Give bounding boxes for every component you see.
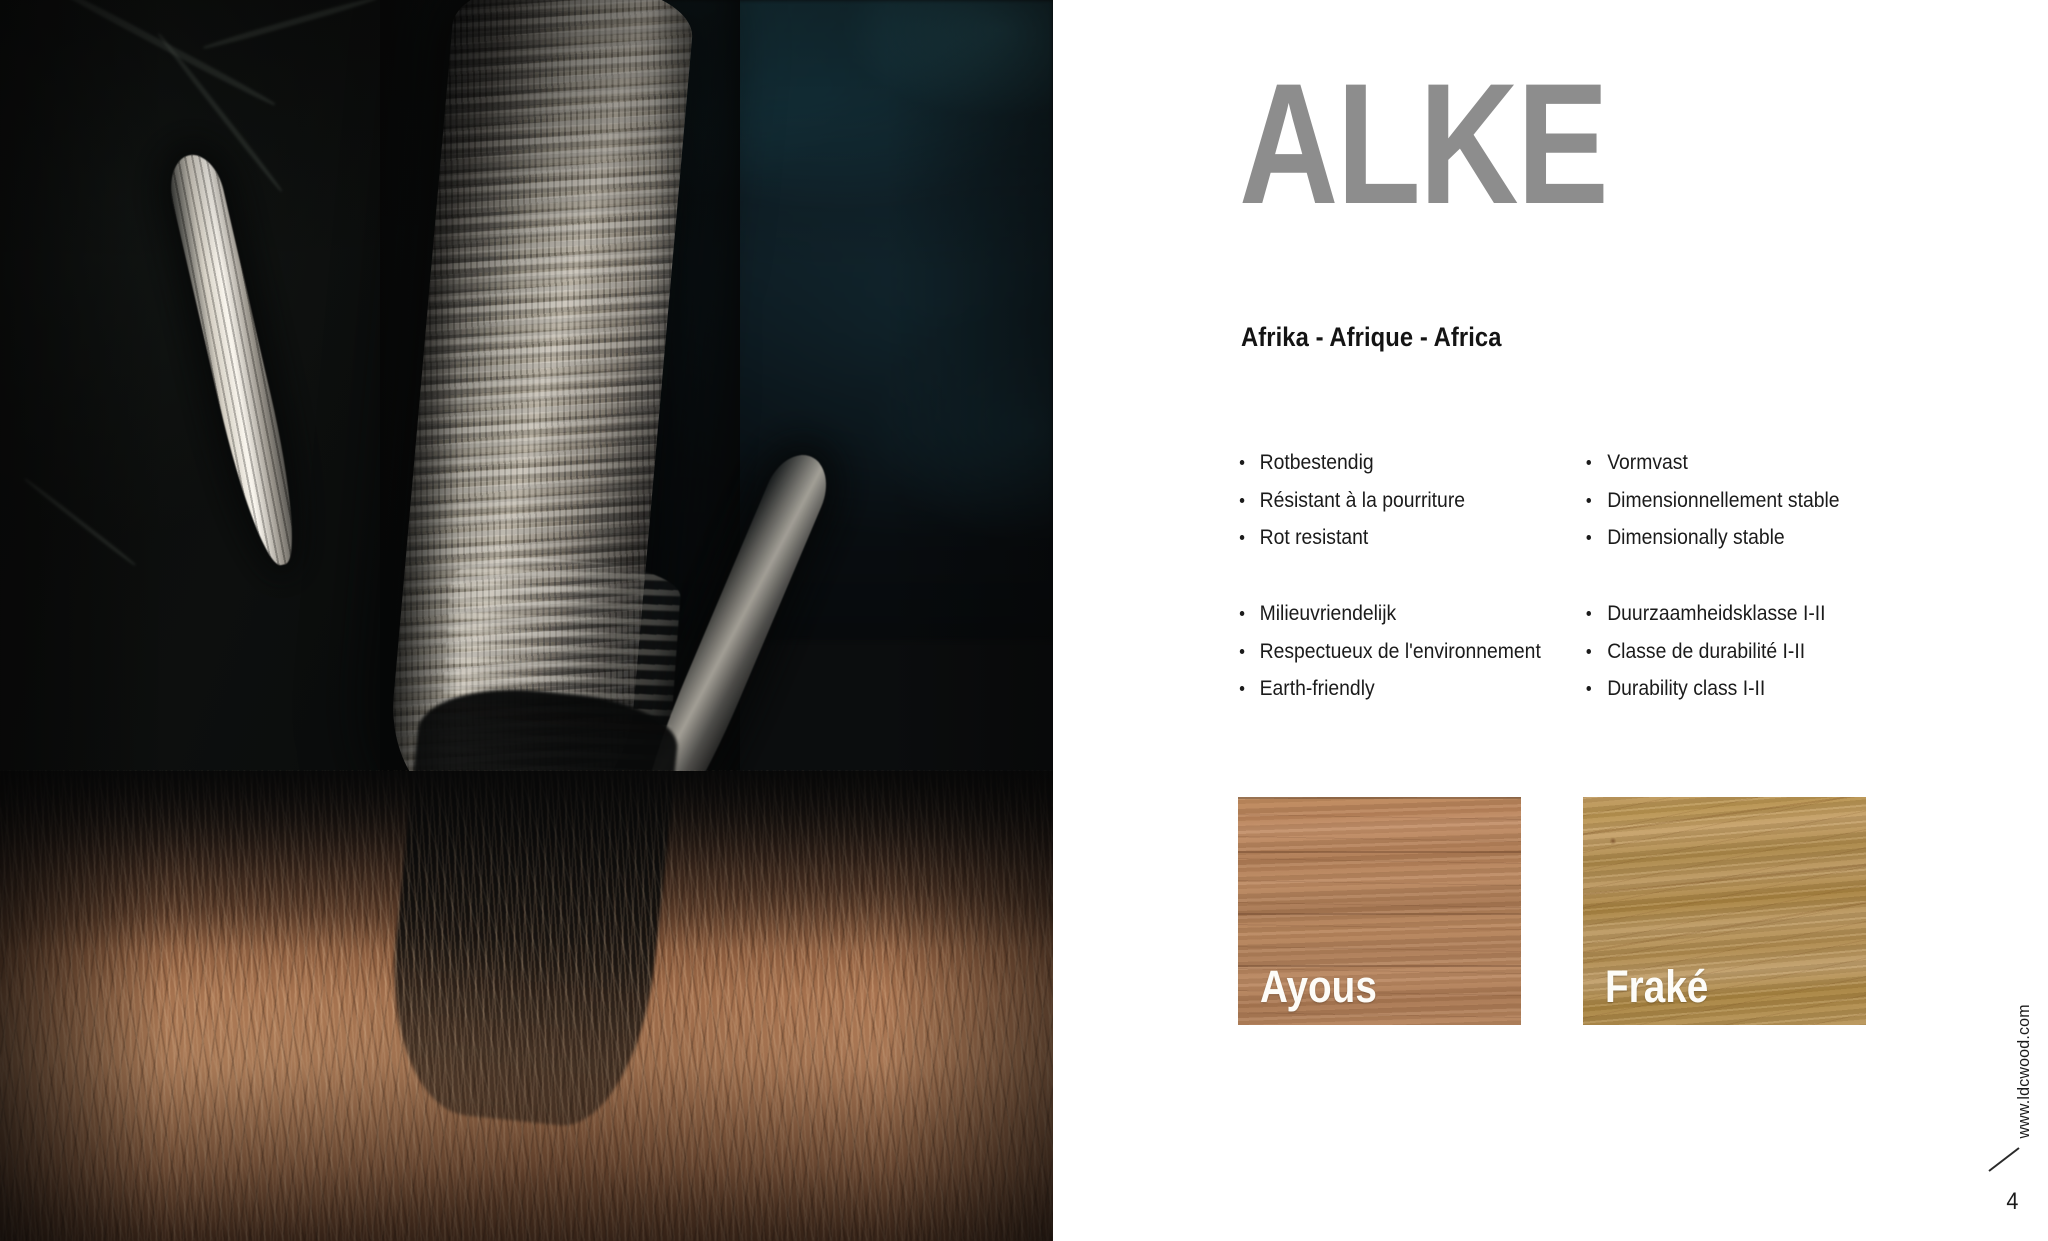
- wood-sample-label: Ayous: [1260, 964, 1377, 1009]
- feature-item: Classe de durabilité I-II: [1582, 637, 1902, 667]
- feature-group-2-right: Duurzaamheidsklasse I-II Classe de durab…: [1582, 599, 1938, 712]
- website-url[interactable]: www.ldcwood.com: [2014, 1004, 2034, 1138]
- diagonal-slash-icon: [1986, 1144, 2024, 1174]
- feature-item: Respectueux de l'environnement: [1238, 637, 1548, 667]
- feature-item: Durability class I-II: [1582, 674, 1902, 704]
- feature-item: Vormvast: [1582, 448, 1902, 478]
- origin-subtitle: Afrika - Afrique - Africa: [1241, 322, 1502, 353]
- content-panel: ALKE Afrika - Afrique - Africa Rotbesten…: [1053, 0, 2048, 1241]
- feature-item: Duurzaamheidsklasse I-II: [1582, 599, 1902, 629]
- wood-sample-frake[interactable]: Fraké: [1583, 797, 1866, 1025]
- feature-item: Milieuvriendelijk: [1238, 599, 1548, 629]
- page-number: 4: [2006, 1188, 2018, 1216]
- feature-item: Dimensionally stable: [1582, 523, 1902, 553]
- feature-item: Earth-friendly: [1238, 674, 1548, 704]
- feature-group-1-left: Rotbestendig Résistant à la pourriture R…: [1238, 448, 1582, 561]
- feature-list-grid: Rotbestendig Résistant à la pourriture R…: [1238, 448, 1938, 712]
- savanna-grass: [0, 771, 1053, 1241]
- feature-item: Rotbestendig: [1238, 448, 1548, 478]
- feature-group-1-right: Vormvast Dimensionnellement stable Dimen…: [1582, 448, 1938, 561]
- feature-item: Résistant à la pourriture: [1238, 486, 1548, 516]
- feature-item: Dimensionnellement stable: [1582, 486, 1902, 516]
- grass-top-shadow-fade: [0, 771, 1053, 951]
- wood-sample-label: Fraké: [1605, 964, 1708, 1009]
- page-title: ALKE: [1239, 58, 1607, 230]
- elephant-photo: [0, 0, 1053, 1241]
- feature-item: Rot resistant: [1238, 523, 1548, 553]
- wood-sample-ayous[interactable]: Ayous: [1238, 797, 1521, 1025]
- wood-sample-swatches: Ayous Fraké: [1238, 797, 1866, 1025]
- brochure-page: ALKE Afrika - Afrique - Africa Rotbesten…: [0, 0, 2048, 1241]
- feature-group-2-left: Milieuvriendelijk Respectueux de l'envir…: [1238, 599, 1582, 712]
